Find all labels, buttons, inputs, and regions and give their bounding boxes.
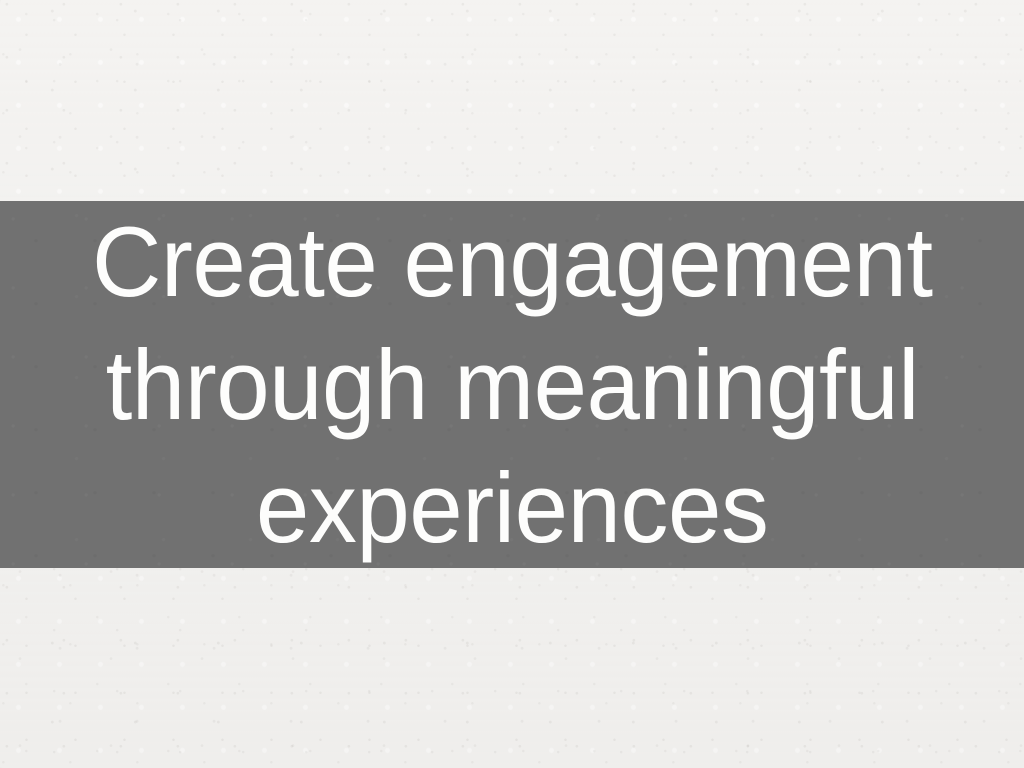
headline-line-2: through meaningful [105,323,918,446]
headline-line-3: experiences [256,446,768,569]
headline-band: Create engagement through meaningful exp… [0,201,1024,568]
headline-line-1: Create engagement [92,200,933,323]
presentation-slide: Create engagement through meaningful exp… [0,0,1024,768]
